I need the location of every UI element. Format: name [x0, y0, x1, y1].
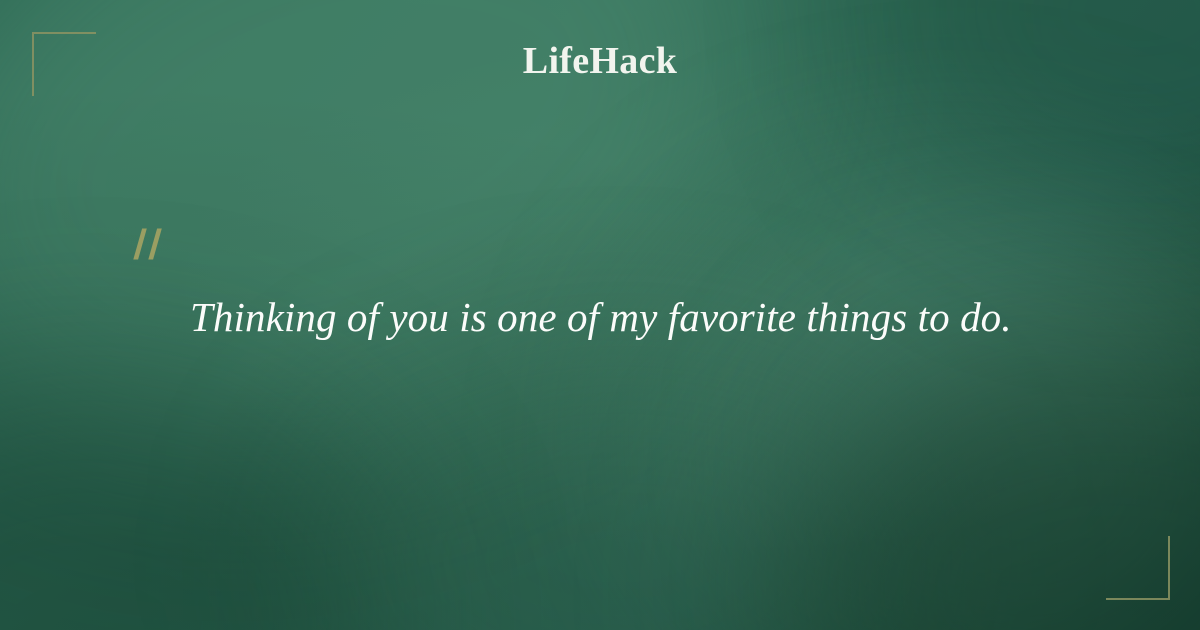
quote-block: Thinking of you is one of my favorite th… [190, 292, 1090, 343]
quote-card: LifeHack Thinking of you is one of my fa… [0, 0, 1200, 630]
corner-bracket-bottom-right-icon [1106, 536, 1170, 600]
quote-text: Thinking of you is one of my favorite th… [190, 292, 1090, 343]
card-content: LifeHack Thinking of you is one of my fa… [0, 0, 1200, 630]
double-quote-icon [131, 226, 175, 266]
brand-logo: LifeHack [0, 42, 1200, 82]
brand-name: LifeHack [523, 42, 677, 82]
